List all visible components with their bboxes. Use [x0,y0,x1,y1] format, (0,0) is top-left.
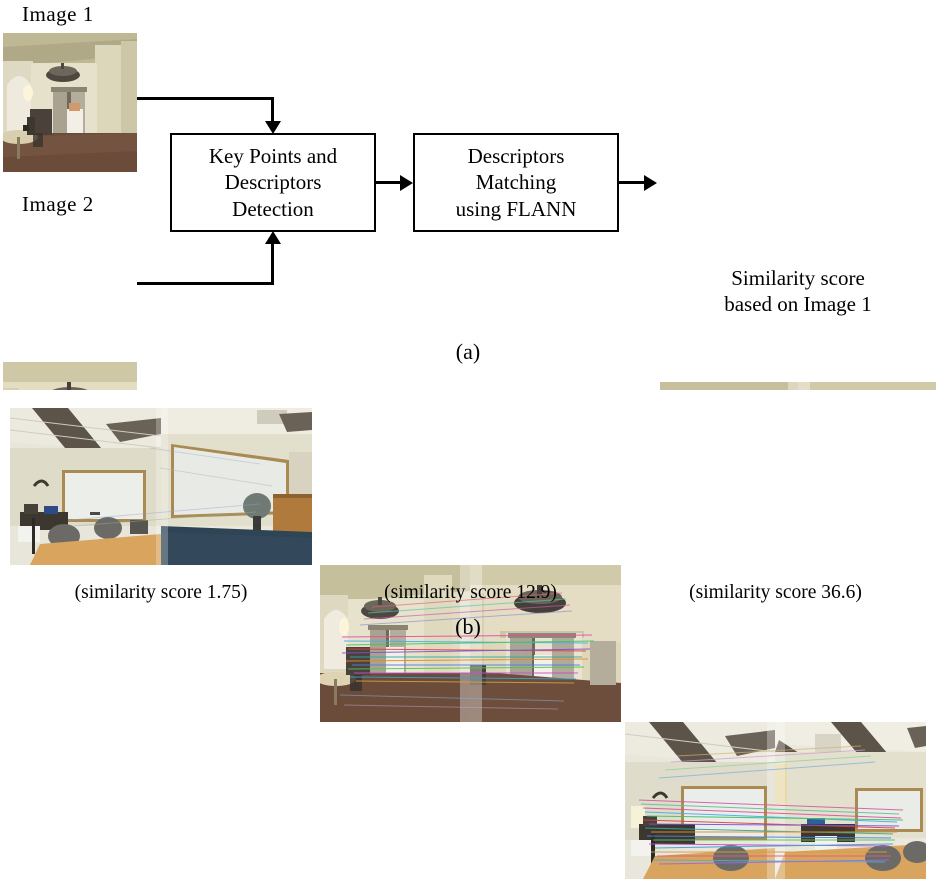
connector-matching-to-result [619,181,646,184]
connector-detection-to-matching [376,181,402,184]
box-detection-line1: Key Points and [209,143,337,169]
box-matching-line2: Matching [456,169,577,195]
image1-label: Image 1 [22,2,94,27]
result-caption-line1: Similarity score [660,266,936,292]
connector-image1-vertical [271,97,274,123]
panelb-caption-1: (similarity score 1.75) [10,582,312,604]
connector-image1-horizontal [137,97,274,100]
panelb-photo-3 [625,722,926,879]
box-matching-line1: Descriptors [456,143,577,169]
panel-a: Image 1 [0,0,936,390]
panel-b-letter: (b) [0,614,936,640]
connector-image2-vertical [271,243,274,285]
panel-a-letter: (a) [0,339,936,365]
box-detection-line2: Descriptors [209,169,337,195]
box-matching-line3: using FLANN [456,196,577,222]
arrow-into-result [644,175,657,191]
panel-b: (similarity score 1.75) (similarity scor… [0,390,936,655]
box-detection-line3: Detection [209,196,337,222]
image2-label: Image 2 [22,192,94,217]
arrow-into-detection-bottom [265,231,281,244]
arrow-into-matching [400,175,413,191]
connector-image2-horizontal [137,282,274,285]
result-caption: Similarity score based on Image 1 [660,266,936,317]
result-caption-line2: based on Image 1 [660,292,936,318]
panelb-caption-3: (similarity score 36.6) [625,582,926,604]
box-descriptors-matching-flann[interactable]: Descriptors Matching using FLANN [413,133,619,232]
box-keypoints-descriptors-detection[interactable]: Key Points and Descriptors Detection [170,133,376,232]
image1-photo [3,33,137,172]
panelb-photo-1 [10,408,312,565]
panelb-caption-2: (similarity score 12.9) [320,582,621,604]
